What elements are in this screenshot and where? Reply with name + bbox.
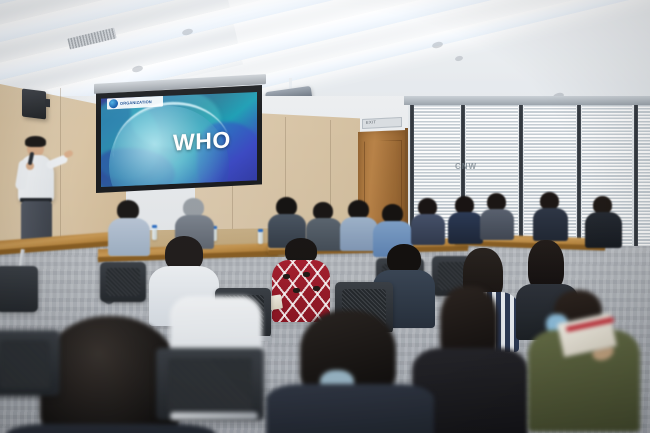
slide-headline: WHO xyxy=(173,126,231,156)
attendee-torso xyxy=(480,209,514,240)
glass-wall-label: CNW xyxy=(455,162,477,171)
bottle-cap-icon xyxy=(152,225,157,228)
chair-mesh-back xyxy=(0,340,50,388)
sweater-motif xyxy=(293,288,300,293)
sweater-motif xyxy=(303,272,310,277)
wall-speaker-bracket xyxy=(45,99,50,108)
sweater-motif xyxy=(283,274,290,279)
attendee-hair xyxy=(528,240,564,290)
globe-logo-icon xyxy=(109,99,118,109)
attendee-torso xyxy=(533,208,568,241)
mesh-office-chair xyxy=(0,266,38,312)
attendee-torso xyxy=(108,218,150,256)
door-sign-label: EXIT xyxy=(366,117,398,127)
chair-mesh-back xyxy=(106,268,140,296)
bottle-cap-icon xyxy=(258,229,263,232)
attendee-torso xyxy=(266,384,434,433)
chair-mesh-back xyxy=(168,358,252,412)
attendee-torso xyxy=(272,260,330,322)
attendee-torso xyxy=(585,212,622,248)
slide-logo-label: ORGANIZATION xyxy=(120,99,152,106)
attendee-torso xyxy=(411,214,445,245)
water-bottle xyxy=(258,231,263,244)
wall-speaker xyxy=(22,89,46,120)
sweater-motif xyxy=(313,286,320,291)
presenter-hair xyxy=(25,136,46,147)
attendee-torso xyxy=(6,424,216,433)
water-bottle xyxy=(152,227,157,240)
projection-screen: WHO ORGANIZATION xyxy=(101,92,257,187)
chair-frame xyxy=(170,412,258,420)
conference-room-photo: EXIT CNW WHO ORGANIZATION xyxy=(0,0,650,433)
attendee-torso xyxy=(448,212,483,244)
glass-wall-header xyxy=(404,96,650,105)
attendee-head xyxy=(117,200,139,220)
